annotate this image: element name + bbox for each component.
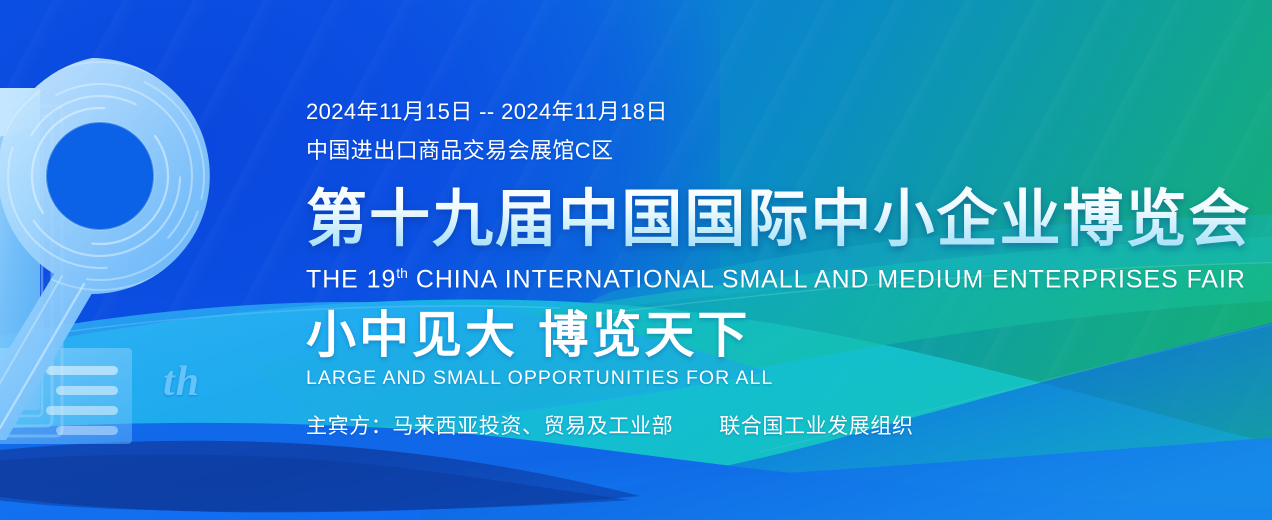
page-title-english: THE 19th CHINA INTERNATIONAL SMALL AND M…	[306, 258, 1267, 294]
ordinal-suffix-th: th	[163, 358, 200, 406]
title-en-prefix: THE 19	[306, 265, 396, 293]
title-en-rest: CHINA INTERNATIONAL SMALL AND MEDIUM ENT…	[416, 265, 1246, 293]
anniversary-emblem	[0, 48, 264, 448]
cisme-fair-banner: th 2024年11月15日 -- 2024年11月18日 中国进出口商品交易会…	[0, 0, 1272, 520]
slogan-chinese: 小中见大 博览天下	[306, 306, 1272, 364]
slogan-english: LARGE AND SMALL OPPORTUNITIES FOR ALL	[306, 366, 1272, 390]
guest-organization: 联合国工业发展组织	[719, 415, 913, 438]
event-date: 2024年11月15日 -- 2024年11月18日	[306, 96, 1272, 128]
banner-text-block: 2024年11月15日 -- 2024年11月18日 中国进出口商品交易会展馆C…	[306, 96, 1272, 442]
title-en-ordinal: th	[396, 265, 408, 281]
guest-of-honour-line: 主宾方：马来西亚投资、贸易及工业部联合国工业发展组织	[306, 412, 1272, 442]
guest-of-honour-country: 主宾方：马来西亚投资、贸易及工业部	[306, 415, 673, 438]
event-venue: 中国进出口商品交易会展馆C区	[306, 134, 1272, 168]
page-title: 第十九届中国国际中小企业博览会	[306, 184, 1258, 254]
